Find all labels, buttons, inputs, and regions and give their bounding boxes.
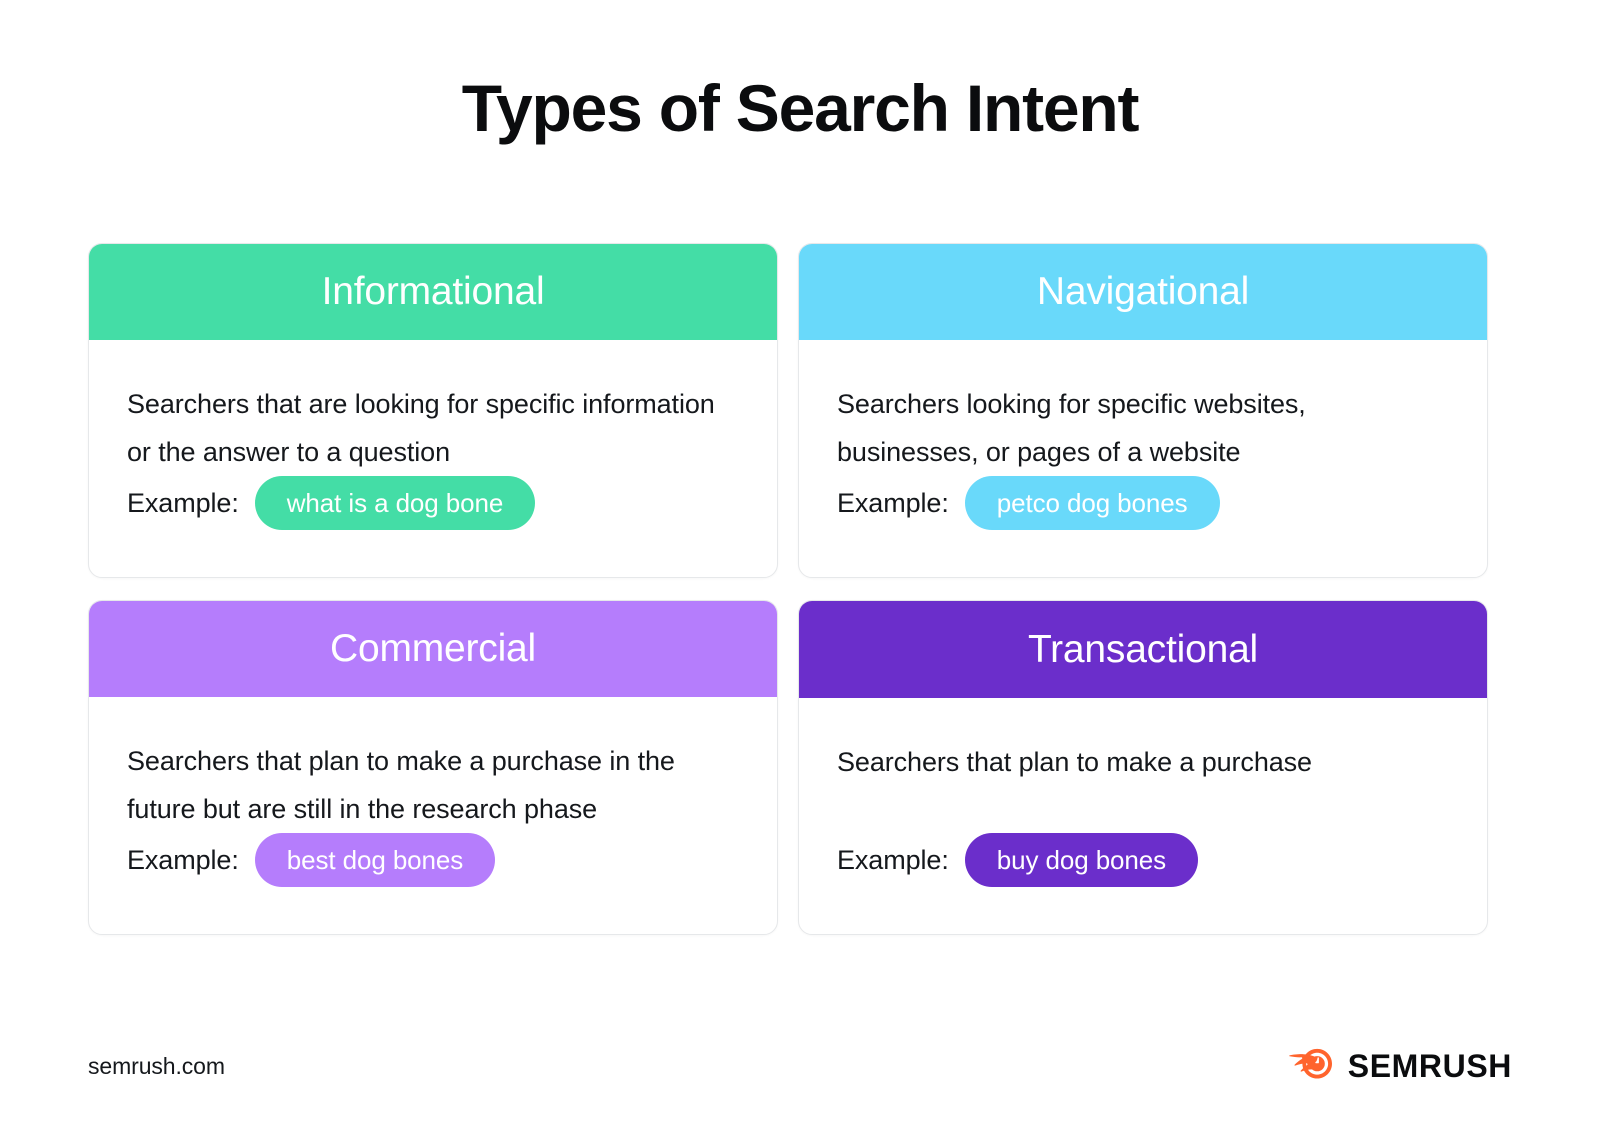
example-keyword-pill[interactable]: best dog bones (255, 833, 495, 887)
card-description: Searchers that are looking for specific … (127, 380, 727, 476)
card-header-commercial: Commercial (89, 601, 777, 697)
card-body-transactional: Searchers that plan to make a purchase E… (799, 698, 1487, 934)
intent-card-commercial: Commercial Searchers that plan to make a… (88, 600, 778, 935)
example-keyword-pill[interactable]: buy dog bones (965, 833, 1198, 887)
semrush-logo: SEMRUSH (1289, 1048, 1512, 1084)
example-label: Example: (127, 845, 239, 876)
card-header-label: Navigational (1037, 270, 1249, 314)
example-keyword-pill[interactable]: what is a dog bone (255, 476, 535, 530)
example-row: Example: buy dog bones (837, 833, 1449, 934)
semrush-wordmark: SEMRUSH (1348, 1050, 1512, 1082)
card-header-informational: Informational (89, 244, 777, 340)
intent-card-informational: Informational Searchers that are looking… (88, 243, 778, 578)
example-row: Example: what is a dog bone (127, 476, 739, 577)
footer-website-url[interactable]: semrush.com (88, 1053, 225, 1080)
example-label: Example: (127, 488, 239, 519)
card-header-label: Transactional (1028, 628, 1258, 672)
card-description: Searchers that plan to make a purchase (837, 738, 1437, 786)
card-description: Searchers looking for specific websites,… (837, 380, 1437, 476)
semrush-comet-icon (1289, 1048, 1335, 1084)
card-header-navigational: Navigational (799, 244, 1487, 340)
intent-card-grid: Informational Searchers that are looking… (88, 243, 1488, 935)
example-row: Example: best dog bones (127, 833, 739, 934)
card-header-label: Informational (322, 270, 545, 314)
example-label: Example: (837, 488, 949, 519)
infographic-page: Types of Search Intent Informational Sea… (0, 0, 1600, 1128)
card-body-commercial: Searchers that plan to make a purchase i… (89, 697, 777, 934)
card-body-navigational: Searchers looking for specific websites,… (799, 340, 1487, 577)
intent-card-transactional: Transactional Searchers that plan to mak… (798, 600, 1488, 935)
page-title: Types of Search Intent (0, 0, 1600, 145)
page-footer: semrush.com SEMRUSH (88, 1042, 1512, 1090)
intent-card-navigational: Navigational Searchers looking for speci… (798, 243, 1488, 578)
card-header-label: Commercial (330, 627, 536, 671)
example-label: Example: (837, 845, 949, 876)
card-description: Searchers that plan to make a purchase i… (127, 737, 727, 833)
card-header-transactional: Transactional (799, 601, 1487, 698)
card-body-informational: Searchers that are looking for specific … (89, 340, 777, 577)
example-row: Example: petco dog bones (837, 476, 1449, 577)
example-keyword-pill[interactable]: petco dog bones (965, 476, 1220, 530)
